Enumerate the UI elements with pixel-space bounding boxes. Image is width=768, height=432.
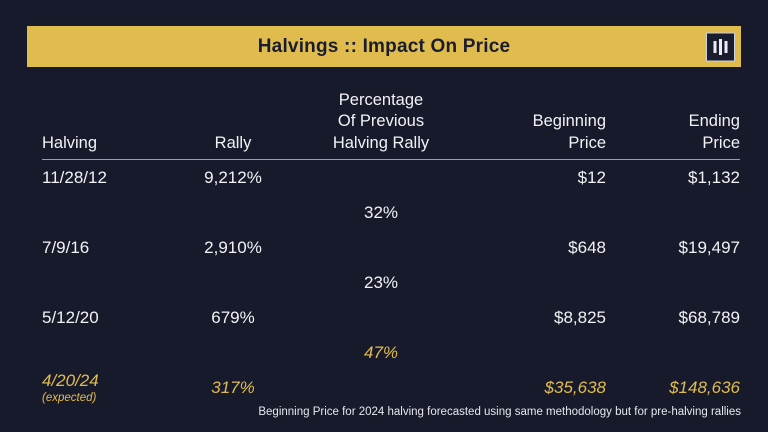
cell-spacer [474,266,606,300]
cell-spacer [42,336,178,370]
column-header-beginning-line2: Price [474,133,606,154]
column-header-ending-line2: Price [606,133,740,154]
halving-date-value: 7/9/16 [42,239,178,257]
interstitial-percentage-row: 23% [42,266,740,300]
cell-ending-price: $1,132 [606,160,740,196]
cell-spacer [178,336,288,370]
cell-percentage-spacer [288,370,474,406]
cell-spacer [474,336,606,370]
interstitial-percentage-value: 32% [288,196,474,230]
halving-date-value: 5/12/20 [42,309,178,327]
interstitial-percentage-row: 32% [42,196,740,230]
cell-halving-date: 7/9/16 [42,230,178,266]
table-header: Halving Rally Percentage Of Previous Hal… [42,90,740,160]
halving-date-value: 11/28/12 [42,169,178,187]
footnote: Beginning Price for 2024 halving forecas… [258,406,741,418]
cell-rally: 9,212% [178,160,288,196]
interstitial-percentage-row-forecast: 47% [42,336,740,370]
cell-halving-date: 4/20/24 (expected) [42,370,178,406]
cell-spacer [178,266,288,300]
interstitial-percentage-value: 23% [288,266,474,300]
halvings-table-container: Halving Rally Percentage Of Previous Hal… [42,90,740,406]
interstitial-percentage-value: 47% [288,336,474,370]
cell-beginning-price: $648 [474,230,606,266]
cell-spacer [606,266,740,300]
column-header-ending-price: Ending Price [606,90,740,159]
cell-spacer [178,196,288,230]
cell-spacer [42,266,178,300]
table-row: 5/12/20 679% $8,825 $68,789 [42,300,740,336]
column-header-percentage-line3: Halving Rally [288,133,474,154]
cell-spacer [42,196,178,230]
header-row: Halving Rally Percentage Of Previous Hal… [42,90,740,159]
cell-percentage-spacer [288,230,474,266]
column-header-beginning-line1: Beginning [474,111,606,132]
cell-percentage-spacer [288,300,474,336]
table-row: 11/28/12 9,212% $12 $1,132 [42,160,740,196]
cell-rally: 317% [178,370,288,406]
column-header-rally-label: Rally [178,133,288,154]
table-row: 7/9/16 2,910% $648 $19,497 [42,230,740,266]
cell-spacer [606,196,740,230]
title-banner: Halvings :: Impact On Price [27,26,741,67]
cell-halving-date: 5/12/20 [42,300,178,336]
halvings-table: Halving Rally Percentage Of Previous Hal… [42,90,740,406]
page-title: Halvings :: Impact On Price [258,36,510,58]
three-bars-logo-icon [706,32,735,61]
cell-ending-price: $19,497 [606,230,740,266]
cell-ending-price: $148,636 [606,370,740,406]
cell-rally: 679% [178,300,288,336]
cell-percentage-spacer [288,160,474,196]
cell-beginning-price: $8,825 [474,300,606,336]
column-header-percentage-line1: Percentage [288,90,474,111]
column-header-rally: Rally [178,90,288,159]
cell-spacer [474,196,606,230]
cell-beginning-price: $35,638 [474,370,606,406]
cell-halving-date: 11/28/12 [42,160,178,196]
column-header-percentage-line2: Of Previous [288,111,474,132]
column-header-beginning-price: Beginning Price [474,90,606,159]
column-header-halving-label: Halving [42,133,178,154]
cell-beginning-price: $12 [474,160,606,196]
table-body: 11/28/12 9,212% $12 $1,132 32% 7/9/16 [42,160,740,406]
column-header-ending-line1: Ending [606,111,740,132]
table-row-forecast: 4/20/24 (expected) 317% $35,638 $148,636 [42,370,740,406]
cell-ending-price: $68,789 [606,300,740,336]
column-header-percentage-of-previous-halving-rally: Percentage Of Previous Halving Rally [288,90,474,159]
cell-spacer [606,336,740,370]
halving-date-note: (expected) [42,392,178,404]
cell-rally: 2,910% [178,230,288,266]
halving-date-value: 4/20/24 [42,372,178,390]
column-header-halving: Halving [42,90,178,159]
